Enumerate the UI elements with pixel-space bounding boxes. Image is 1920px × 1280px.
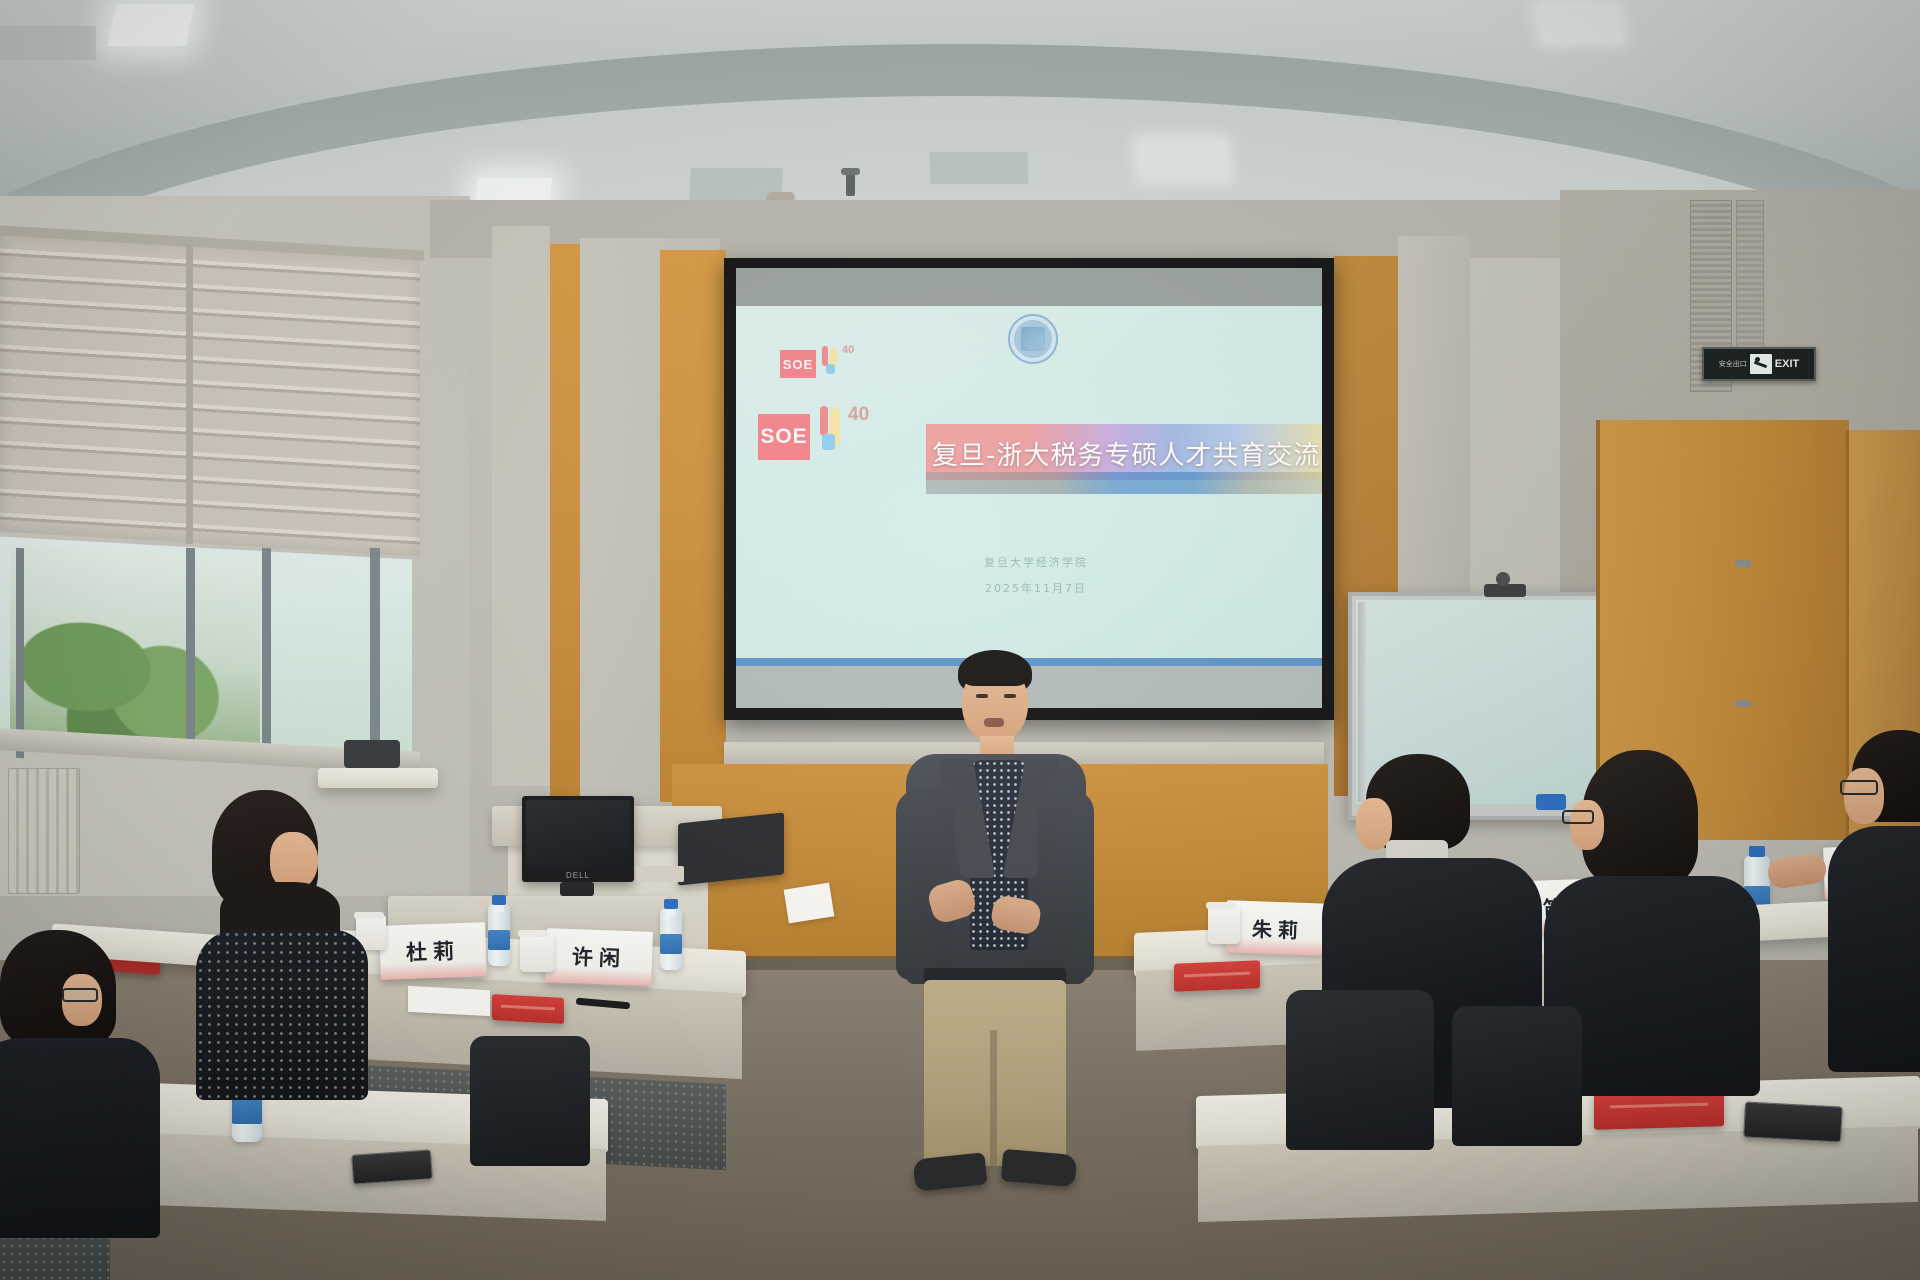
- window-blinds[interactable]: [0, 232, 420, 557]
- water-bottle[interactable]: [488, 904, 510, 966]
- bottle-label: [660, 934, 682, 954]
- attendee-glasses-icon: [1840, 780, 1878, 795]
- slide-subtitle: 复旦大学经济学院: [936, 554, 1136, 570]
- ceiling-light-panel: [108, 4, 195, 46]
- attendee-left-2: [0, 930, 150, 1280]
- chair-back: [1452, 1006, 1582, 1146]
- slide-canvas: SOE 40 SOE 40 复旦-浙大税务专硕人才共育交流会 复旦大学经济学院 …: [736, 306, 1322, 666]
- smartphone[interactable]: [1743, 1101, 1843, 1142]
- soe-logo-small: SOE: [780, 350, 816, 378]
- name-placard-text: 朱莉: [1252, 913, 1305, 944]
- paper-cup[interactable]: [520, 934, 554, 972]
- whiteboard-mount-knob: [1496, 572, 1510, 586]
- sprinkler-head-icon: [846, 172, 855, 196]
- ceiling-light-panel: [1138, 140, 1228, 178]
- documents: [408, 986, 490, 1016]
- monitor-brand-label: DELL: [566, 871, 590, 880]
- presenter-arm-right: [1038, 790, 1094, 980]
- radiator: [8, 768, 80, 894]
- red-gift-box[interactable]: [492, 994, 564, 1024]
- attendee-top: [196, 930, 368, 1100]
- ceiling-light-panel: [1537, 6, 1623, 42]
- logo-bar-red: [822, 346, 828, 366]
- wall-panel: [1398, 236, 1470, 596]
- window-mullion: [370, 548, 380, 755]
- chair-back: [470, 1036, 590, 1166]
- cup-lid: [518, 930, 548, 937]
- name-placard: 朱莉: [1225, 900, 1331, 956]
- exit-sign: 安全出口 EXIT: [1702, 347, 1816, 381]
- cup-lid: [1206, 902, 1236, 909]
- logo-bar-blue: [822, 434, 835, 450]
- dell-monitor: DELL: [522, 796, 634, 882]
- monitor-stand: [560, 882, 594, 896]
- door-hinge: [1735, 700, 1751, 707]
- presenter: [880, 650, 1110, 1210]
- monitor-screen: [526, 800, 630, 868]
- running-person-icon: [1750, 354, 1772, 374]
- bottle-neck: [666, 909, 676, 916]
- bottle-label: [232, 1098, 262, 1124]
- water-bottle[interactable]: [660, 908, 682, 970]
- ceiling-panel: [929, 152, 1028, 184]
- name-placard-text: 许闲: [571, 941, 626, 973]
- door-hinge: [1735, 560, 1751, 567]
- blinds-divider: [186, 244, 193, 544]
- attendee-suit: [1828, 826, 1920, 1072]
- presenter-hairline: [964, 658, 1026, 686]
- logo-number-large: 40: [848, 404, 869, 426]
- attendee-top: [0, 1038, 160, 1238]
- bottle-label: [488, 930, 510, 950]
- window-mullion: [16, 548, 24, 758]
- keyboard[interactable]: [636, 866, 684, 882]
- projection-screen: SOE 40 SOE 40 复旦-浙大税务专硕人才共育交流会 复旦大学经济学院 …: [736, 268, 1322, 708]
- name-placard-text: 杜莉: [405, 935, 460, 967]
- presenter-shoe-right: [1001, 1149, 1078, 1187]
- attendee-face: [1570, 800, 1604, 850]
- presenter-mouth: [984, 718, 1004, 727]
- chair-back: [1286, 990, 1434, 1150]
- window-foliage-view: [10, 545, 260, 755]
- paper-cup[interactable]: [1208, 906, 1240, 944]
- exit-sign-chinese: 安全出口: [1719, 359, 1747, 369]
- window-mullion: [186, 548, 195, 759]
- attendee-face: [1844, 768, 1884, 824]
- presenter-trouser-seam: [990, 1030, 997, 1166]
- exit-sign-english: EXIT: [1775, 358, 1799, 370]
- smartphone[interactable]: [351, 1149, 433, 1185]
- red-gift-box[interactable]: [1174, 960, 1260, 992]
- logo-number-small: 40: [842, 344, 854, 356]
- whiteboard-clip: [1484, 584, 1526, 597]
- laptop[interactable]: [678, 812, 784, 885]
- attendee-right-3: [1838, 730, 1920, 1070]
- wood-trim-panel: [550, 244, 580, 804]
- attendee-glasses-icon: [1562, 810, 1594, 824]
- slide-date: 2025年11月7日: [936, 580, 1136, 596]
- wall-column: [492, 226, 550, 786]
- attendee-left-1: [190, 790, 380, 1090]
- classroom-photo-scene: SOE 40 SOE 40 复旦-浙大税务专硕人才共育交流会 复旦大学经济学院 …: [0, 0, 1920, 1280]
- av-equipment: [344, 740, 400, 768]
- side-desk: [318, 768, 438, 788]
- documents: [784, 883, 835, 924]
- presenter-eye: [1004, 694, 1016, 698]
- logo-bar-red: [820, 406, 828, 436]
- name-placard: 许闲: [545, 928, 653, 986]
- presenter-eye: [976, 694, 988, 698]
- attendee-glasses-icon: [62, 988, 98, 1002]
- university-seal-icon: [1008, 314, 1058, 364]
- window-mullion: [262, 548, 271, 755]
- bottle-cap: [492, 895, 506, 905]
- bottle-cap: [664, 899, 678, 909]
- wall-vent-grille: [1736, 200, 1764, 352]
- name-placard: 杜莉: [379, 922, 487, 980]
- ceiling-panel: [0, 26, 96, 60]
- slide-title: 复旦-浙大税务专硕人才共育交流会: [932, 430, 1322, 476]
- wood-trim-panel: [660, 250, 726, 802]
- logo-bar-blue: [826, 364, 835, 374]
- presenter-shoe-left: [913, 1152, 988, 1191]
- bottle-neck: [494, 905, 504, 912]
- soe-logo-large: SOE: [758, 414, 810, 460]
